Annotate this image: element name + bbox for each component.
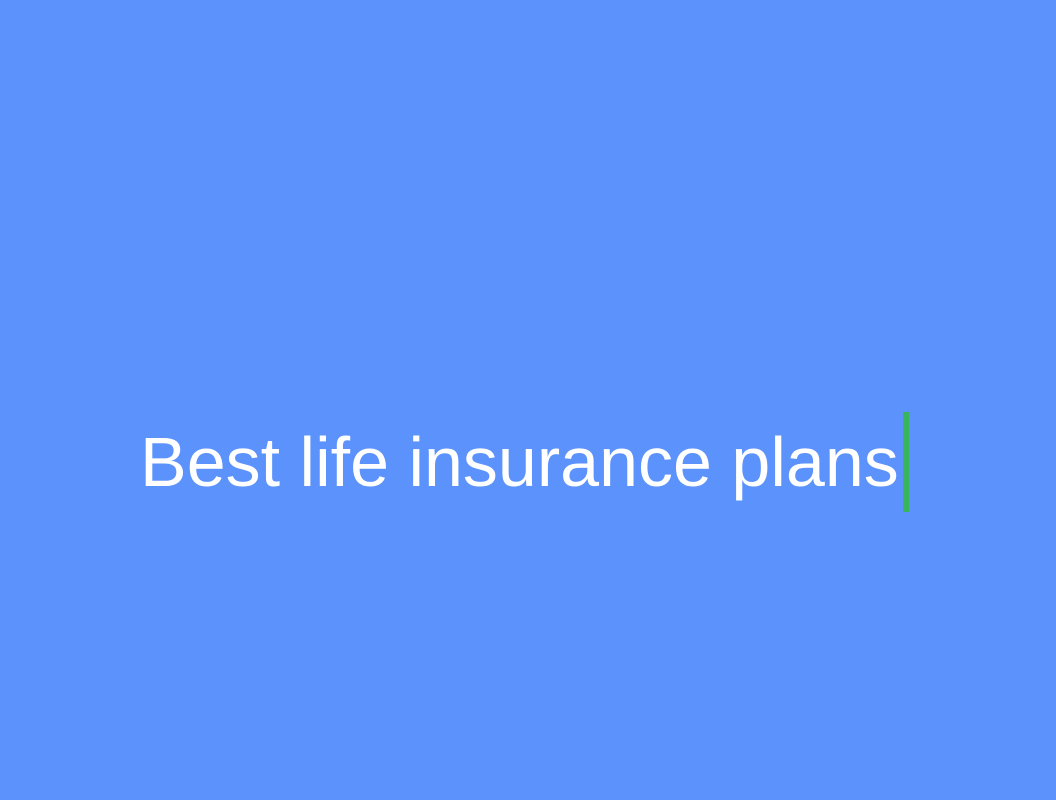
slide-canvas[interactable]: Best life insurance plans: [0, 0, 1056, 800]
headline-text[interactable]: Best life insurance plans: [140, 412, 899, 512]
text-caret: [903, 412, 909, 512]
headline-text-box[interactable]: Best life insurance plans: [140, 412, 909, 512]
